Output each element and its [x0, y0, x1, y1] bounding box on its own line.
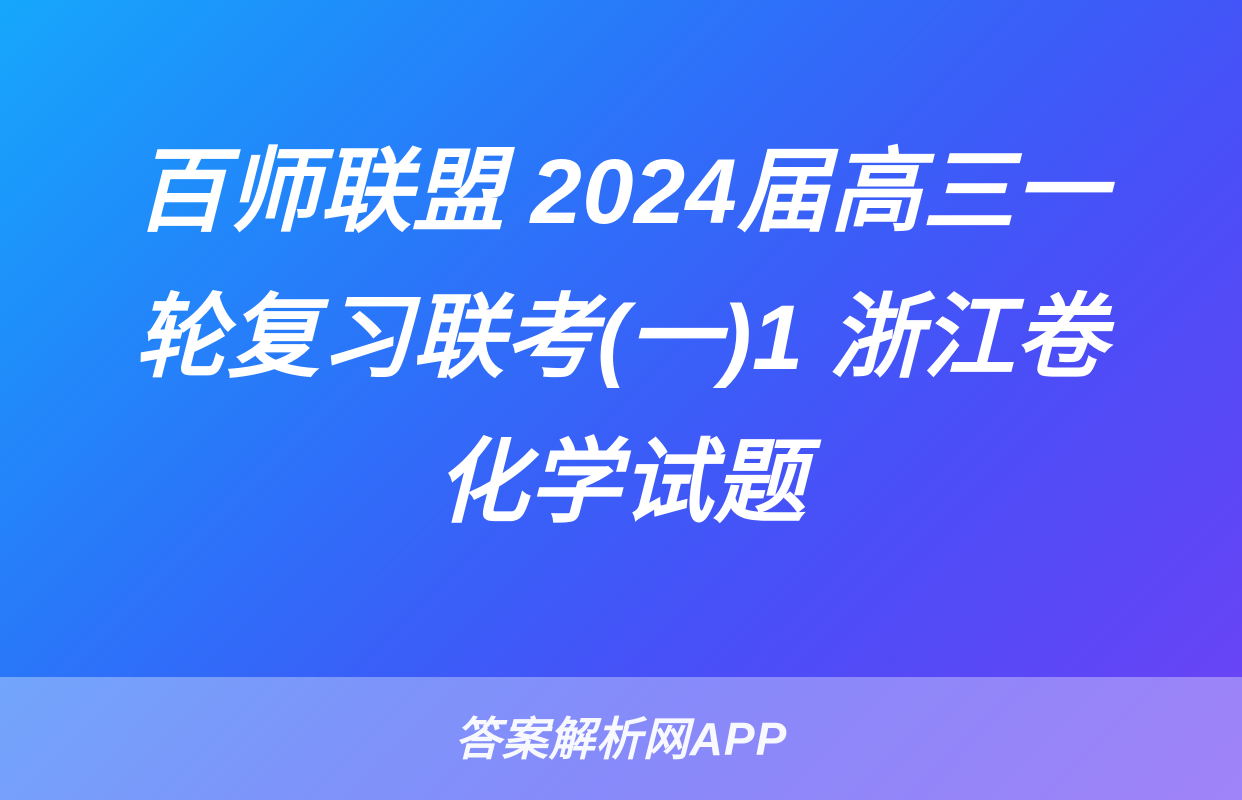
title-line-1: 百师联盟 2024届高三一: [135, 141, 1108, 243]
title-line-3: 化学试题: [436, 432, 806, 534]
title-line-2: 轮复习联考(一)1 浙江卷: [135, 287, 1108, 389]
headline-block: 百师联盟 2024届高三一 轮复习联考(一)1 浙江卷 化学试题: [0, 0, 1242, 677]
app-watermark: 答案解析网APP: [455, 716, 788, 762]
exam-cover-card: 百师联盟 2024届高三一 轮复习联考(一)1 浙江卷 化学试题 答案解析网AP…: [0, 0, 1242, 800]
footer-watermark-band: 答案解析网APP: [0, 677, 1242, 800]
page-title: 百师联盟 2024届高三一 轮复习联考(一)1 浙江卷 化学试题: [135, 120, 1108, 556]
